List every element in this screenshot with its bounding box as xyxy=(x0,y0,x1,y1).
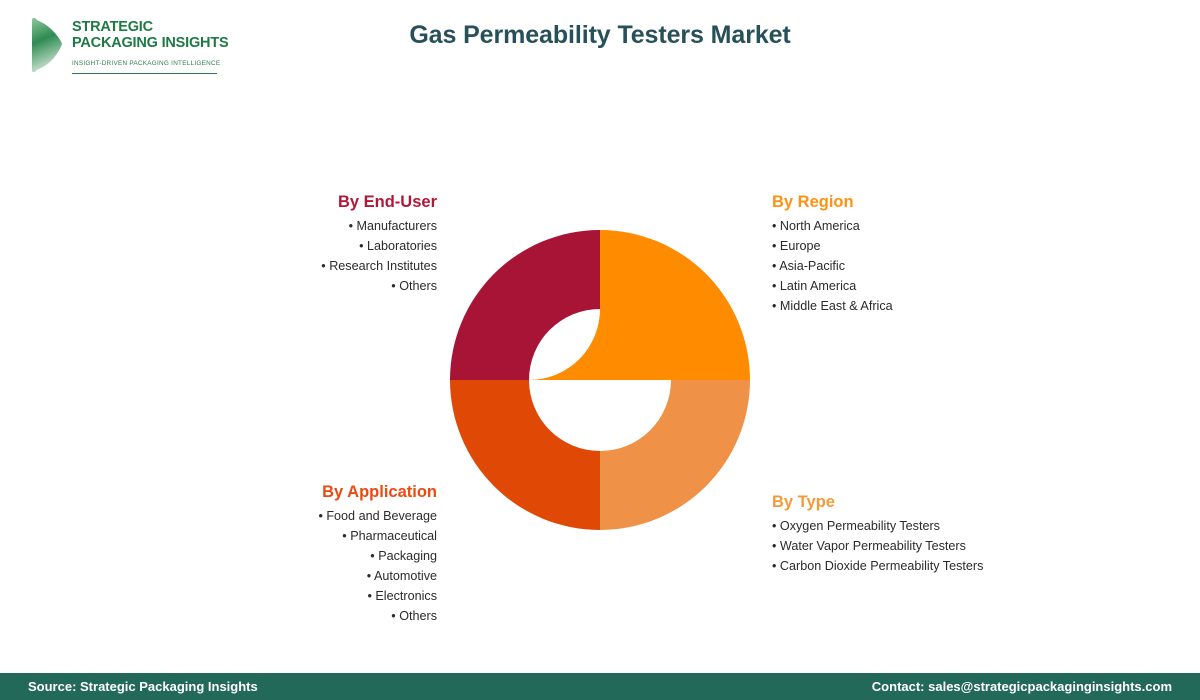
list-item: • Packaging xyxy=(175,546,437,566)
list-item: • Research Institutes xyxy=(185,256,437,276)
list-item: • Food and Beverage xyxy=(175,506,437,526)
segment-application-title: By Application xyxy=(175,483,437,502)
bullet-icon: • xyxy=(370,549,374,563)
list-item: • Asia-Pacific xyxy=(772,256,1072,276)
list-item-label: Laboratories xyxy=(367,239,437,253)
segment-type-list: • Oxygen Permeability Testers • Water Va… xyxy=(772,516,1102,576)
list-item-label: North America xyxy=(780,219,860,233)
page-title: Gas Permeability Testers Market xyxy=(0,21,1200,50)
list-item: • Oxygen Permeability Testers xyxy=(772,516,1102,536)
segment-end-user-list: • Manufacturers • Laboratories • Researc… xyxy=(185,216,437,296)
bullet-icon: • xyxy=(391,609,395,623)
list-item-label: Middle East & Africa xyxy=(780,299,893,313)
list-item-label: Food and Beverage xyxy=(326,509,437,523)
list-item-label: Electronics xyxy=(375,589,437,603)
list-item-label: Packaging xyxy=(378,549,437,563)
list-item: • Europe xyxy=(772,236,1072,256)
bullet-icon: • xyxy=(349,219,353,233)
bullet-icon: • xyxy=(772,219,776,233)
bullet-icon: • xyxy=(772,519,776,533)
bullet-icon: • xyxy=(772,279,776,293)
infographic-page: STRATEGIC PACKAGING INSIGHTS INSIGHT-DRI… xyxy=(0,0,1200,700)
logo-tagline: INSIGHT-DRIVEN PACKAGING INTELLIGENCE xyxy=(72,60,217,67)
list-item: • Middle East & Africa xyxy=(772,296,1072,316)
bullet-icon: • xyxy=(367,569,371,583)
footer-source: Source: Strategic Packaging Insights xyxy=(28,679,258,694)
segment-end-user-title: By End-User xyxy=(185,193,437,212)
segment-application-list: • Food and Beverage • Pharmaceutical • P… xyxy=(175,506,437,626)
list-item: • Automotive xyxy=(175,566,437,586)
donut-slice-end-user[interactable] xyxy=(450,230,600,380)
list-item: • North America xyxy=(772,216,1072,236)
bullet-icon: • xyxy=(772,239,776,253)
list-item-label: Asia-Pacific xyxy=(779,259,845,273)
segment-end-user: By End-User • Manufacturers • Laboratori… xyxy=(185,193,437,296)
list-item: • Manufacturers xyxy=(185,216,437,236)
footer-bar: Source: Strategic Packaging Insights Con… xyxy=(0,673,1200,700)
segment-region-title: By Region xyxy=(772,193,1072,212)
list-item-label: Others xyxy=(399,279,437,293)
donut-slice-application[interactable] xyxy=(450,380,600,530)
footer-contact: Contact: sales@strategicpackaginginsight… xyxy=(872,679,1172,694)
segment-region-list: • North America • Europe • Asia-Pacific … xyxy=(772,216,1072,316)
bullet-icon: • xyxy=(772,539,776,553)
list-item-label: Oxygen Permeability Testers xyxy=(780,519,940,533)
bullet-icon: • xyxy=(772,559,776,573)
segment-region: By Region • North America • Europe • Asi… xyxy=(772,193,1072,316)
bullet-icon: • xyxy=(391,279,395,293)
list-item: • Others xyxy=(175,606,437,626)
list-item-label: Carbon Dioxide Permeability Testers xyxy=(780,559,983,573)
list-item-label: Pharmaceutical xyxy=(350,529,437,543)
list-item-label: Manufacturers xyxy=(357,219,438,233)
list-item: • Pharmaceutical xyxy=(175,526,437,546)
segment-type: By Type • Oxygen Permeability Testers • … xyxy=(772,493,1102,576)
bullet-icon: • xyxy=(318,509,322,523)
list-item-label: Others xyxy=(399,609,437,623)
bullet-icon: • xyxy=(772,299,776,313)
market-segmentation-donut-chart xyxy=(450,230,750,530)
donut-slice-type[interactable] xyxy=(600,380,750,530)
list-item: • Others xyxy=(185,276,437,296)
list-item: • Carbon Dioxide Permeability Testers xyxy=(772,556,1102,576)
list-item: • Laboratories xyxy=(185,236,437,256)
bullet-icon: • xyxy=(367,589,371,603)
list-item-label: Water Vapor Permeability Testers xyxy=(780,539,966,553)
list-item-label: Research Institutes xyxy=(329,259,437,273)
bullet-icon: • xyxy=(772,259,776,273)
bullet-icon: • xyxy=(321,259,325,273)
segment-application: By Application • Food and Beverage • Pha… xyxy=(175,483,437,626)
segment-type-title: By Type xyxy=(772,493,1102,512)
list-item: • Latin America xyxy=(772,276,1072,296)
list-item: • Water Vapor Permeability Testers xyxy=(772,536,1102,556)
list-item-label: Europe xyxy=(780,239,821,253)
bullet-icon: • xyxy=(359,239,363,253)
list-item: • Electronics xyxy=(175,586,437,606)
logo-divider xyxy=(72,73,217,74)
list-item-label: Automotive xyxy=(374,569,437,583)
list-item-label: Latin America xyxy=(780,279,856,293)
bullet-icon: • xyxy=(342,529,346,543)
